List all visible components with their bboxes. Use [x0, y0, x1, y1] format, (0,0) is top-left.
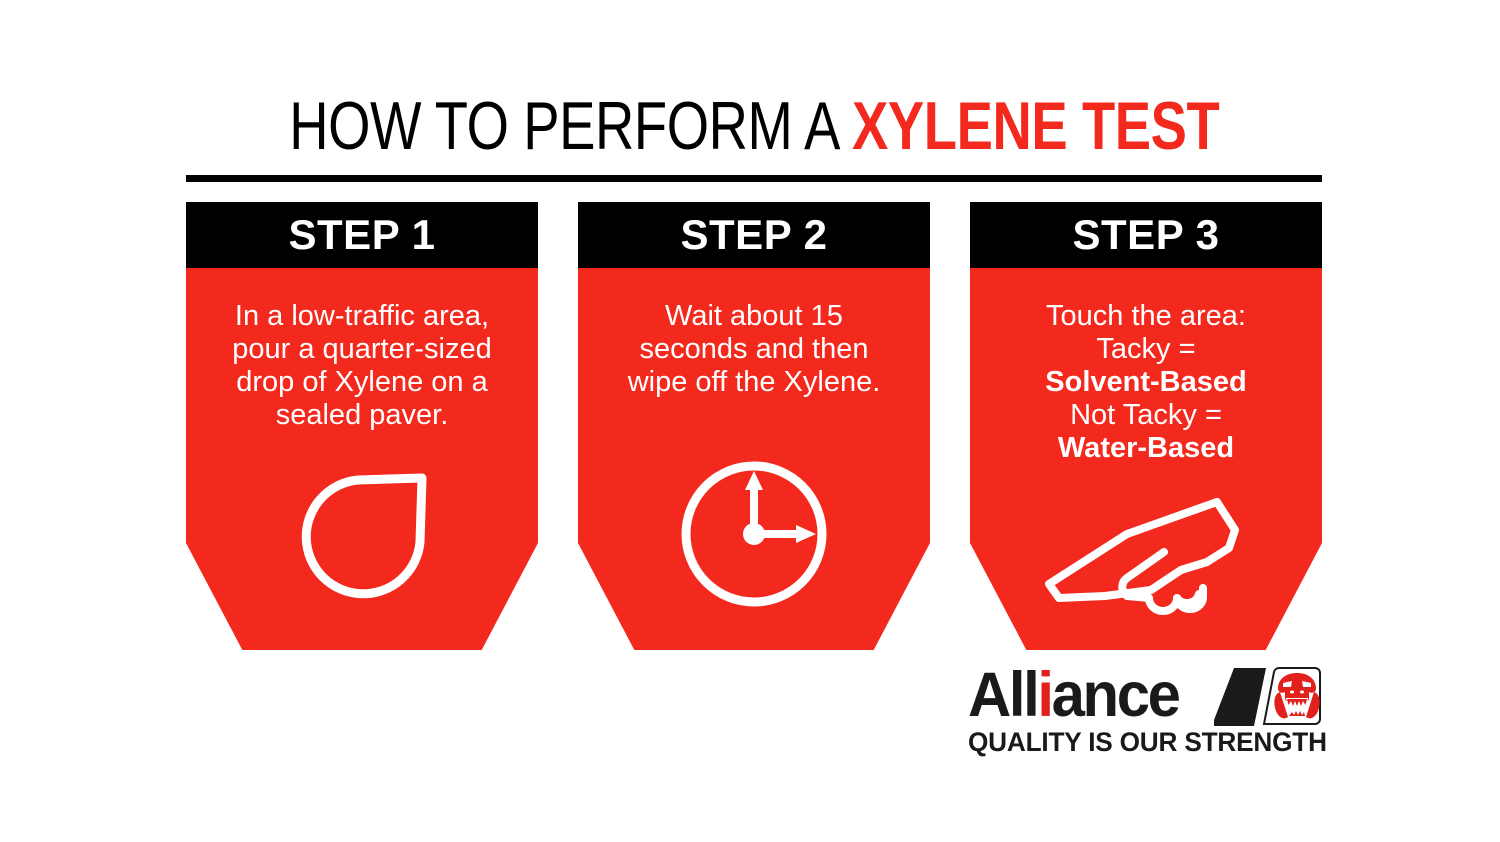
step-text-line: seconds and then	[628, 333, 881, 366]
page-title-accent: XYLENE TEST	[852, 88, 1219, 164]
clock-icon	[578, 456, 930, 612]
step-text-line: Not Tacky =	[1045, 399, 1246, 432]
gator-head-icon	[1214, 666, 1326, 726]
step-card-3-text: Touch the area: Tacky = Solvent-Based No…	[1031, 300, 1260, 465]
page-title-plain: HOW TO PERFORM A	[289, 88, 840, 164]
alliance-logo: Alliance	[968, 666, 1326, 758]
wordmark-part-2: ance	[1052, 660, 1179, 730]
alliance-tagline: QUALITY IS OUR STRENGTH	[968, 728, 1315, 756]
step-card-2: STEP 2 Wait about 15 seconds and then wi…	[578, 202, 930, 650]
wordmark-part-1: All	[968, 660, 1037, 730]
step-text-line: pour a quarter-sized	[232, 333, 492, 366]
step-text-line: Touch the area:	[1045, 300, 1246, 333]
step-card-3-header: STEP 3	[970, 202, 1322, 268]
step-card-2-header: STEP 2	[578, 202, 930, 268]
step-card-1: STEP 1 In a low-traffic area, pour a qua…	[186, 202, 538, 650]
alliance-wordmark: Alliance	[968, 664, 1179, 727]
step-text-line-emphasis: Solvent-Based	[1045, 366, 1246, 399]
page-title: HOW TO PERFORM AXYLENE TEST	[186, 88, 1322, 160]
step-card-3-header-label: STEP 3	[1073, 214, 1220, 256]
step-text-line: drop of Xylene on a	[232, 366, 492, 399]
steps-container: STEP 1 In a low-traffic area, pour a qua…	[186, 202, 1322, 652]
droplet-icon	[186, 464, 538, 614]
step-card-2-text: Wait about 15 seconds and then wipe off …	[614, 300, 895, 399]
alliance-logo-main: Alliance	[968, 666, 1326, 726]
wordmark-i-accent: i	[1037, 660, 1051, 730]
step-text-line: In a low-traffic area,	[232, 300, 492, 333]
step-text-line: wipe off the Xylene.	[628, 366, 881, 399]
infographic-root: HOW TO PERFORM AXYLENE TEST STEP 1 In a …	[0, 0, 1500, 842]
step-text-line: sealed paver.	[232, 399, 492, 432]
step-text-line-emphasis: Water-Based	[1045, 432, 1246, 465]
step-card-1-header: STEP 1	[186, 202, 538, 268]
pointing-hand-icon	[970, 486, 1322, 616]
step-card-3-body: Touch the area: Tacky = Solvent-Based No…	[970, 268, 1322, 650]
step-card-3: STEP 3 Touch the area: Tacky = Solvent-B…	[970, 202, 1322, 650]
step-card-1-body: In a low-traffic area, pour a quarter-si…	[186, 268, 538, 650]
step-card-1-header-label: STEP 1	[289, 214, 436, 256]
title-divider	[186, 175, 1322, 182]
step-card-2-body: Wait about 15 seconds and then wipe off …	[578, 268, 930, 650]
step-card-1-text: In a low-traffic area, pour a quarter-si…	[218, 300, 506, 432]
step-text-line: Tacky =	[1045, 333, 1246, 366]
step-text-line: Wait about 15	[628, 300, 881, 333]
step-card-2-header-label: STEP 2	[681, 214, 828, 256]
